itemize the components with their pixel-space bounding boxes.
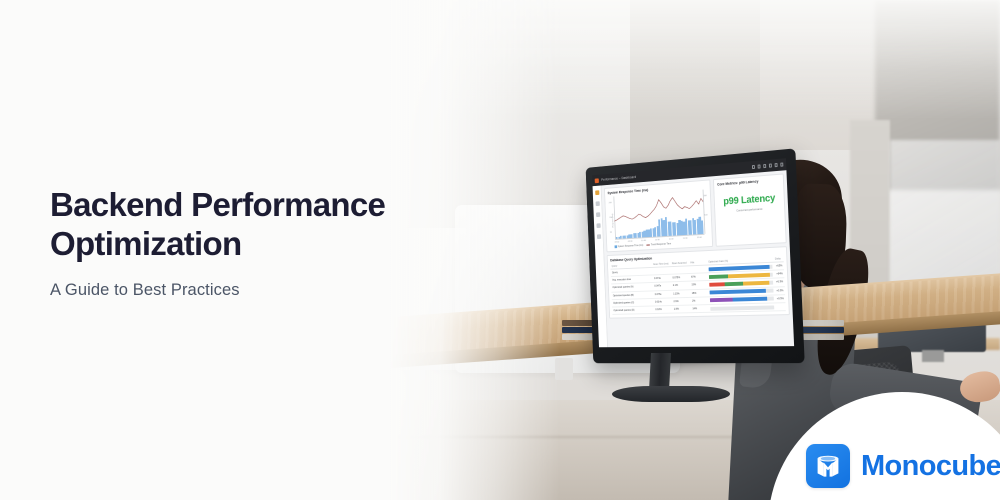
- headline-line-1: Backend Performance: [50, 186, 480, 225]
- page-subtitle: A Guide to Best Practices: [50, 281, 480, 300]
- progress-segment: [767, 297, 774, 301]
- y-tick-right: 100: [704, 214, 707, 216]
- x-tick-label: 09:00: [615, 242, 620, 244]
- monitor-base: [611, 386, 730, 402]
- app-main: System Response Time (ms) Response (ms) …: [601, 170, 794, 347]
- x-tick-label: 11:30: [683, 238, 688, 240]
- brand-wordmark: Monocubed: [861, 450, 1000, 483]
- desk-leg-right: [365, 392, 374, 500]
- cube-m-icon: [813, 451, 843, 481]
- cell-gain-bar: [709, 303, 776, 313]
- latency-card: Core Metrics: p99 Latency p99 Latency Co…: [713, 173, 786, 246]
- progress-segment: [766, 289, 774, 293]
- y-tick: 50: [610, 232, 612, 234]
- window-controls[interactable]: [752, 163, 784, 169]
- top-card-row: System Response Time (ms) Response (ms) …: [604, 173, 787, 252]
- query-table: QueryExec Time (ms)Rows ScannedHitsOptim…: [610, 256, 785, 315]
- x-tick-label: 10:30: [655, 240, 660, 242]
- table-body: Query+63%Avg. execution time0.074s0.075%…: [611, 262, 786, 315]
- progress-bar: [710, 297, 774, 303]
- progress-segment: [728, 273, 771, 279]
- dashboard-app: Performance – Dashboard: [592, 158, 794, 347]
- progress-segment: [769, 281, 773, 285]
- progress-bar: [710, 289, 774, 295]
- book-stack-right: [800, 320, 844, 340]
- progress-segment: [770, 272, 773, 276]
- marketing-banner: Performance – Dashboard: [0, 0, 1000, 500]
- flame-icon: [595, 178, 599, 183]
- analytics-icon[interactable]: [595, 201, 599, 206]
- book: [800, 320, 844, 326]
- progress-segment: [710, 298, 733, 302]
- progress-segment: [743, 281, 769, 286]
- y-tick-right: 200: [703, 195, 706, 197]
- progress-bar: [709, 281, 773, 287]
- y-tick: 150: [609, 217, 612, 219]
- x-tick-label: 12:00: [697, 237, 702, 239]
- book: [802, 327, 844, 333]
- settings-icon[interactable]: [597, 234, 601, 239]
- legend-label: System Response Time (ms): [618, 244, 644, 248]
- cell-hits: 14%: [691, 305, 709, 313]
- app-body: System Response Time (ms) Response (ms) …: [593, 170, 795, 347]
- database-icon[interactable]: [596, 212, 600, 217]
- progress-segment: [724, 282, 743, 287]
- browser-tab-label[interactable]: Performance – Dashboard: [601, 175, 636, 182]
- cell-rows-scanned: 1.8%: [672, 305, 691, 313]
- more-icon[interactable]: [774, 163, 777, 167]
- legend-label: Trend Response Time: [651, 242, 671, 246]
- dashboard-icon[interactable]: [595, 190, 599, 195]
- menu-icon[interactable]: [769, 164, 772, 168]
- latency-kpi-value: p99 Latency: [723, 193, 775, 207]
- headline-block: Backend Performance Optimization A Guide…: [50, 186, 480, 300]
- progress-segment: [710, 289, 766, 295]
- legend-item-line: Trend Response Time: [647, 242, 672, 246]
- legend-line-swatch: [647, 245, 650, 246]
- progress-segment: [709, 282, 724, 286]
- restore-icon[interactable]: [757, 165, 760, 169]
- progress-segment: [732, 297, 767, 302]
- y-tick: 250: [609, 202, 612, 204]
- x-tick-label: 11:00: [669, 239, 674, 241]
- progress-bar: [710, 305, 774, 310]
- trend-line-series: [613, 190, 704, 235]
- brand-logo[interactable]: Monocubed: [806, 444, 1000, 488]
- reports-icon[interactable]: [596, 223, 600, 228]
- response-time-card: System Response Time (ms) Response (ms) …: [604, 179, 713, 252]
- card-title: Core Metrics: p99 Latency: [717, 179, 758, 186]
- progress-segment: [710, 305, 774, 310]
- book: [801, 334, 844, 340]
- cell-exec-time: 0.18%: [654, 305, 673, 313]
- x-tick-label: 09:30: [628, 241, 633, 243]
- latency-kpi-caption: Concurrent performance: [736, 208, 762, 213]
- cell-delta: +0.5%: [775, 294, 785, 302]
- monocubed-mark-icon: [806, 444, 850, 488]
- cell-query: Optimized queries (D): [612, 306, 654, 315]
- settings-icon[interactable]: [780, 163, 783, 167]
- x-tick-label: 10:00: [641, 240, 646, 242]
- progress-segment: [770, 264, 773, 268]
- minimize-icon[interactable]: [752, 165, 755, 169]
- headline-line-2: Optimization: [50, 225, 480, 264]
- page-title: Backend Performance Optimization: [50, 186, 480, 263]
- legend-swatch: [615, 246, 617, 249]
- cell-delta: [775, 303, 785, 311]
- legend-item-bars: System Response Time (ms): [615, 244, 644, 248]
- desktop-monitor: Performance – Dashboard: [560, 148, 800, 363]
- response-time-chart: Response (ms) 250 150 50 200 100: [608, 189, 708, 244]
- query-optimization-card: Database Query Optimization QueryExec Ti…: [607, 246, 790, 319]
- progress-segment: [709, 274, 728, 279]
- close-icon[interactable]: [763, 164, 766, 168]
- monitor-screen: Performance – Dashboard: [592, 158, 794, 347]
